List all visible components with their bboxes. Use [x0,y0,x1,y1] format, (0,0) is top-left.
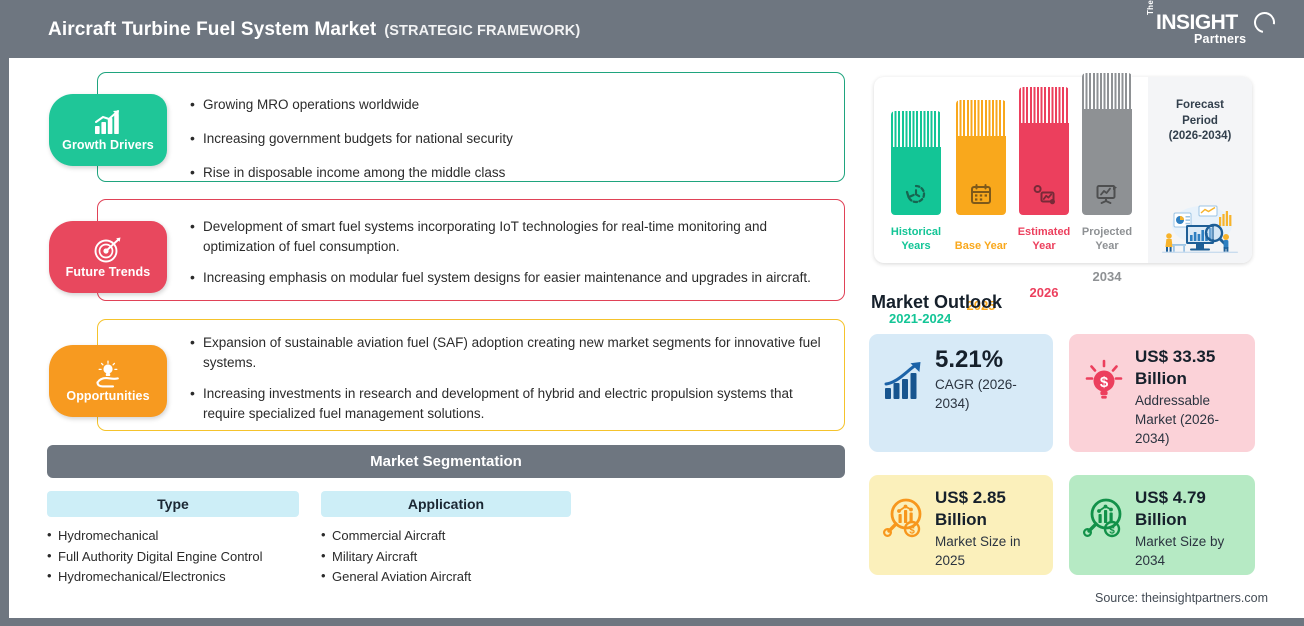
page-title: Aircraft Turbine Fuel System Market(STRA… [48,19,580,41]
settings-chart-icon [1032,182,1056,206]
outlook-card-market-size-2034-body: US$ 4.79 Billion Market Size by 2034 [1135,487,1245,570]
svg-text:$: $ [1100,374,1109,391]
list-item: Hydromechanical/Electronics [47,567,312,588]
timeline-bar-shape-historical [891,111,941,215]
bar-chart-growth-icon [93,109,123,137]
timeline-bar-stripe [891,111,941,147]
timeline-bar-shape-projected [1082,73,1132,215]
badge-opportunities-label: Opportunities [66,389,149,403]
list-item: Increasing government budgets for nation… [190,129,838,149]
timeline-bar-solid [1082,109,1132,215]
market-segmentation-title: Market Segmentation [370,453,522,470]
timeline-bar-stripe [1082,73,1132,109]
calendar-icon [969,182,993,206]
timeline-caption-projected: Projected Year [1076,225,1138,253]
badge-future-trends[interactable]: Future Trends [49,221,167,293]
lightbulb-dollar-icon: $ [1081,358,1127,404]
logo-swoosh-icon [1250,8,1279,37]
svg-text:$: $ [909,525,915,536]
timeline-bar-shape-estimated [1019,87,1069,215]
badge-growth-drivers-label: Growth Drivers [62,138,154,152]
timeline-bar-stripe [956,100,1006,136]
timeline-bar-solid [1019,123,1069,215]
outlook-card-cagr-caption: CAGR (2026-2034) [935,375,1043,413]
page-subtitle: (STRATEGIC FRAMEWORK) [384,23,580,39]
forecast-period-line2: Period [1148,114,1252,130]
target-dartboard-icon [93,236,123,264]
timeline-caption-estimated: Estimated Year [1013,225,1075,253]
outlook-card-addressable-market-value: US$ 33.35 Billion [1135,346,1245,390]
segmentation-column-heading-type-label: Type [157,496,189,512]
monitor-chart-icon [1095,182,1119,206]
list-item: Commercial Aircraft [321,526,571,547]
timeline-bar-shape-base [956,100,1006,215]
outlook-card-addressable-market-body: US$ 33.35 Billion Addressable Market (20… [1135,346,1245,448]
lightbulb-hand-icon [93,360,123,388]
magnifier-chart-dollar-icon: $ [1081,495,1127,541]
list-item: Rise in disposable income among the midd… [190,163,838,183]
badge-growth-drivers[interactable]: Growth Drivers [49,94,167,166]
insight-partners-logo: The INSIGHT Partners [1146,11,1276,49]
timeline-bar-solid [956,136,1006,215]
outlook-card-addressable-market: $ US$ 33.35 Billion Addressable Market (… [1069,334,1255,452]
outlook-card-market-size-2025-body: US$ 2.85 Billion Market Size in 2025 [935,487,1043,570]
future-trends-bullets: Development of smart fuel systems incorp… [190,217,838,299]
segmentation-column-heading-type: Type [47,491,299,517]
svg-text:$: $ [1109,525,1115,536]
bottom-accent-strip [0,618,1304,626]
timeline-year-projected: 2034 [1080,269,1134,284]
list-item: Increasing investments in research and d… [190,384,838,424]
growth-drivers-bullets: Growing MRO operations worldwide Increas… [190,95,838,197]
forecast-period-label: Forecast Period (2026-2034) [1148,98,1252,145]
outlook-card-addressable-market-caption: Addressable Market (2026-2034) [1135,391,1245,448]
list-item: Full Authority Digital Engine Control [47,547,312,568]
list-item: Increasing emphasis on modular fuel syst… [190,268,838,288]
list-item: Growing MRO operations worldwide [190,95,838,115]
analytics-dashboard-illustration-icon [1156,201,1244,255]
list-item: Development of smart fuel systems incorp… [190,217,838,257]
segmentation-column-heading-application: Application [321,491,571,517]
growth-bar-arrow-icon [881,358,927,404]
list-item: Military Aircraft [321,547,571,568]
segmentation-list-type: Hydromechanical Full Authority Digital E… [47,526,312,588]
timeline-caption-base: Base Year [950,239,1012,253]
outlook-card-cagr-value: 5.21% [935,346,1043,374]
badge-opportunities[interactable]: Opportunities [49,345,167,417]
segmentation-list-application: Commercial Aircraft Military Aircraft Ge… [321,526,571,588]
source-attribution: Source: theinsightpartners.com [1095,591,1268,605]
forecast-timeline-panel: 2021-2024 Historical Years 2025 [874,77,1252,263]
segmentation-column-heading-application-label: Application [408,496,484,512]
timeline-caption-historical: Historical Years [885,225,947,253]
forecast-period-line1: Forecast [1148,98,1252,114]
badge-future-trends-label: Future Trends [66,265,151,279]
outlook-card-market-size-2025-value: US$ 2.85 Billion [935,487,1043,531]
outlook-card-market-size-2034-value: US$ 4.79 Billion [1135,487,1245,531]
logo-the-text: The [1146,0,1155,15]
magnifier-chart-dollar-icon: $ [881,495,927,541]
outlook-card-market-size-2034-caption: Market Size by 2034 [1135,532,1245,570]
left-accent-strip [0,58,9,626]
outlook-card-market-size-2025-caption: Market Size in 2025 [935,532,1043,570]
history-clock-icon [904,182,928,206]
infographic-page: Aircraft Turbine Fuel System Market(STRA… [0,0,1304,626]
page-title-text: Aircraft Turbine Fuel System Market [48,19,376,40]
list-item: Hydromechanical [47,526,312,547]
outlook-card-cagr-body: 5.21% CAGR (2026-2034) [935,346,1043,413]
list-item: General Aviation Aircraft [321,567,571,588]
market-segmentation-header: Market Segmentation [47,445,845,478]
timeline-bar-solid [891,147,941,215]
timeline-bar-stripe [1019,87,1069,123]
timeline-year-estimated: 2026 [1017,285,1071,300]
opportunities-bullets: Expansion of sustainable aviation fuel (… [190,333,838,435]
market-outlook-title: Market Outlook [871,292,1002,313]
outlook-card-market-size-2034: $ US$ 4.79 Billion Market Size by 2034 [1069,475,1255,575]
timeline-year-historical: 2021-2024 [889,311,943,326]
logo-partners-text: Partners [1194,32,1246,46]
forecast-period-line3: (2026-2034) [1148,129,1252,145]
outlook-card-market-size-2025: $ US$ 2.85 Billion Market Size in 2025 [869,475,1053,575]
header-bar: Aircraft Turbine Fuel System Market(STRA… [0,0,1304,58]
outlook-card-cagr: 5.21% CAGR (2026-2034) [869,334,1053,452]
list-item: Expansion of sustainable aviation fuel (… [190,333,838,373]
forecast-period-pane: Forecast Period (2026-2034) [1148,77,1252,263]
